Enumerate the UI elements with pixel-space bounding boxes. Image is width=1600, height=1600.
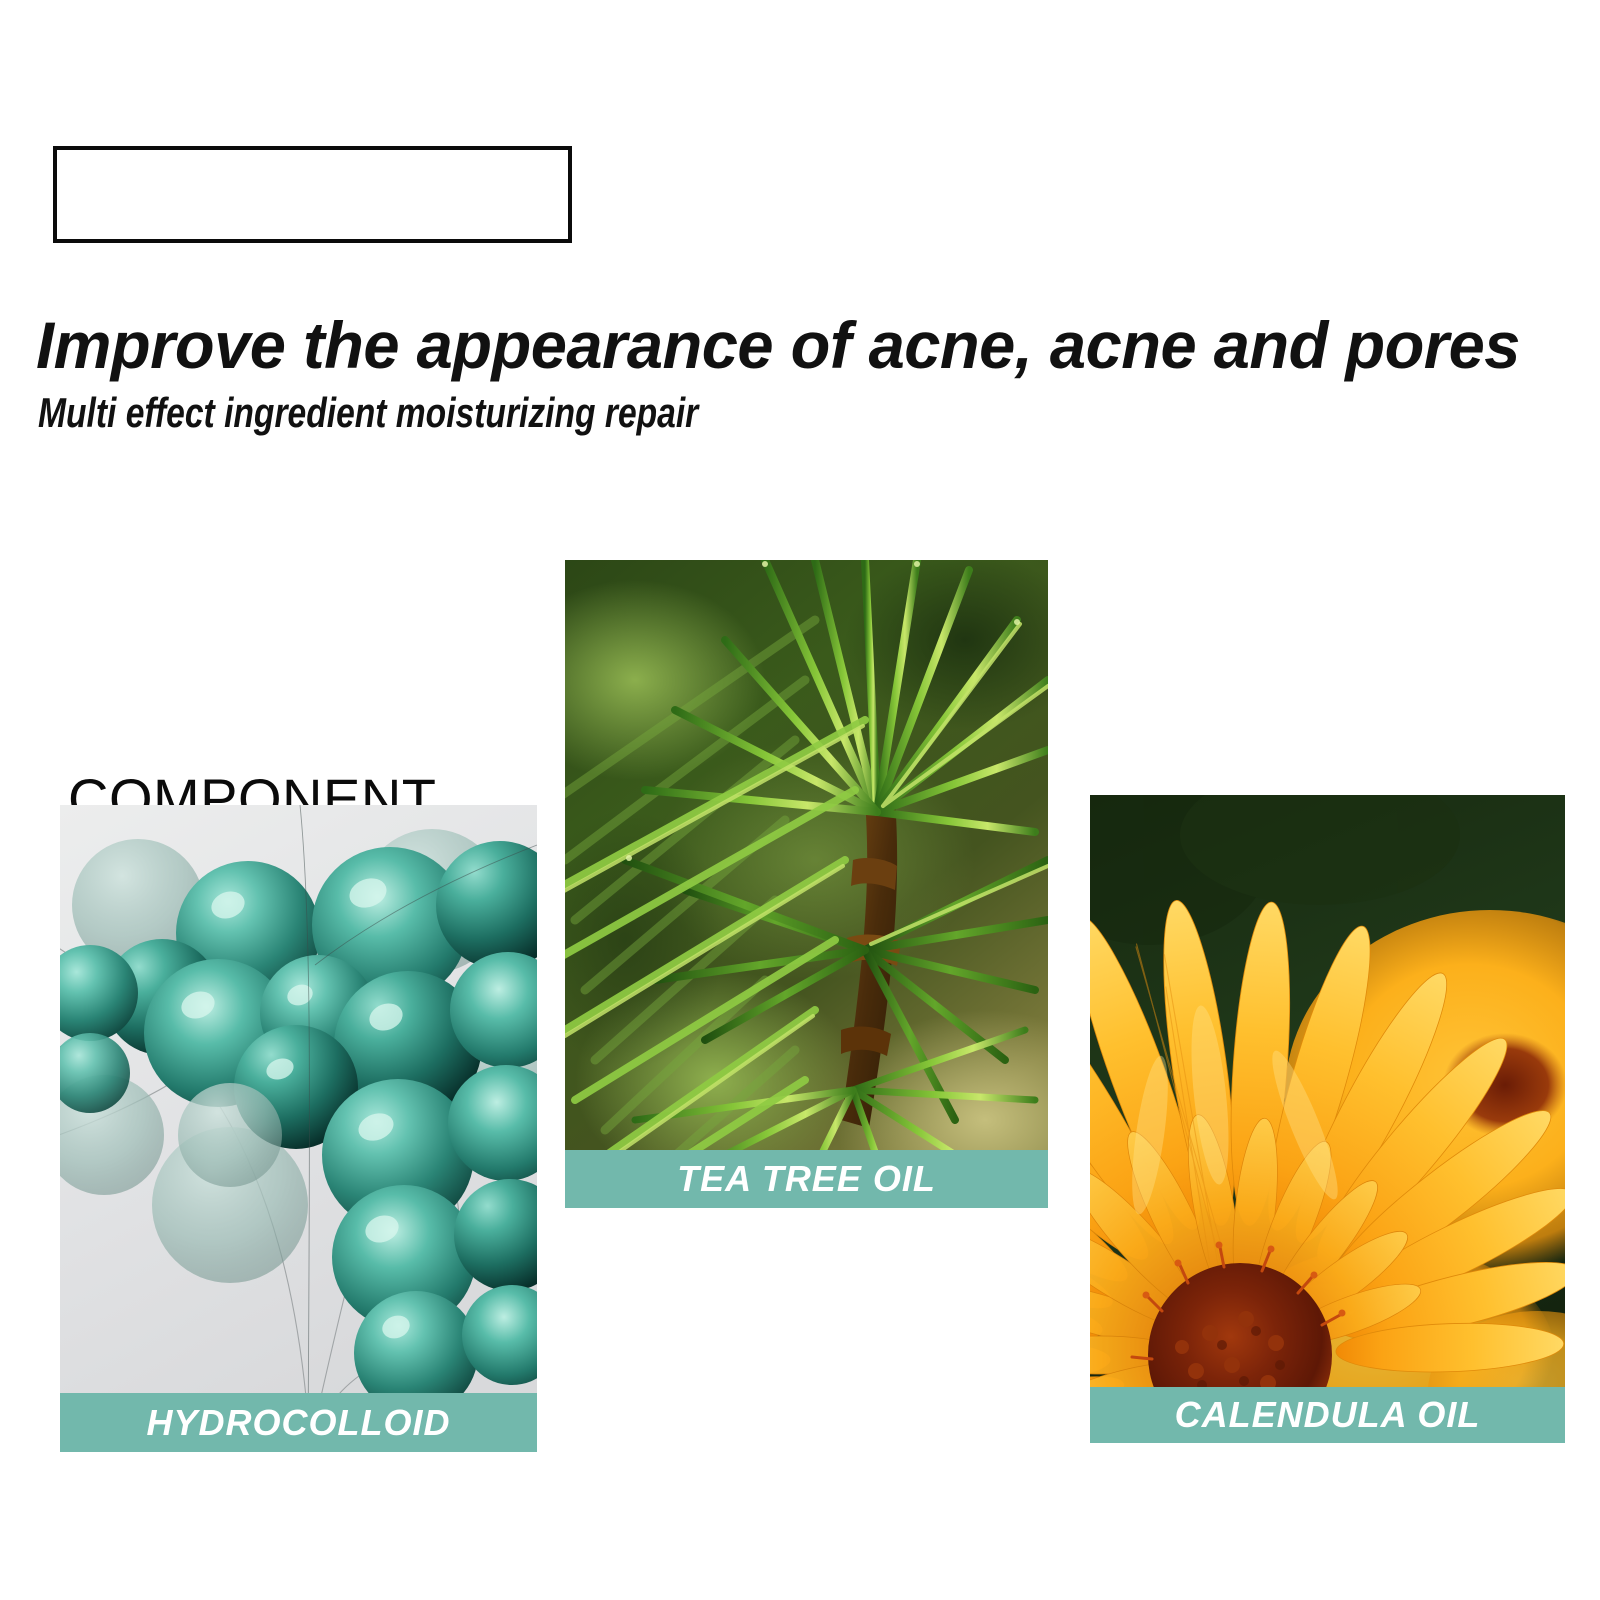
page-subheadline: Multi effect ingredient moisturizing rep… [38,388,698,438]
calendula-caption-text: CALENDULA OIL [1175,1394,1481,1436]
ingredient-card-calendula[interactable]: CALENDULA OIL [1090,795,1565,1443]
calendula-flower-image [1090,795,1565,1443]
hydrocolloid-molecule-image [60,805,537,1452]
ingredient-card-tea-tree[interactable]: TEA TREE OIL [565,560,1048,1208]
calendula-caption-bar: CALENDULA OIL [1090,1387,1565,1443]
tea-tree-plant-image [565,560,1048,1208]
component-badge-box [53,146,572,243]
ingredient-card-hydrocolloid[interactable]: HYDROCOLLOID [60,805,537,1452]
page-headline: Improve the appearance of acne, acne and… [36,306,1558,384]
hydrocolloid-caption-text: HYDROCOLLOID [147,1402,451,1444]
tea-tree-caption-text: TEA TREE OIL [677,1158,936,1200]
tea-tree-caption-bar: TEA TREE OIL [565,1150,1048,1208]
hydrocolloid-caption-bar: HYDROCOLLOID [60,1393,537,1452]
